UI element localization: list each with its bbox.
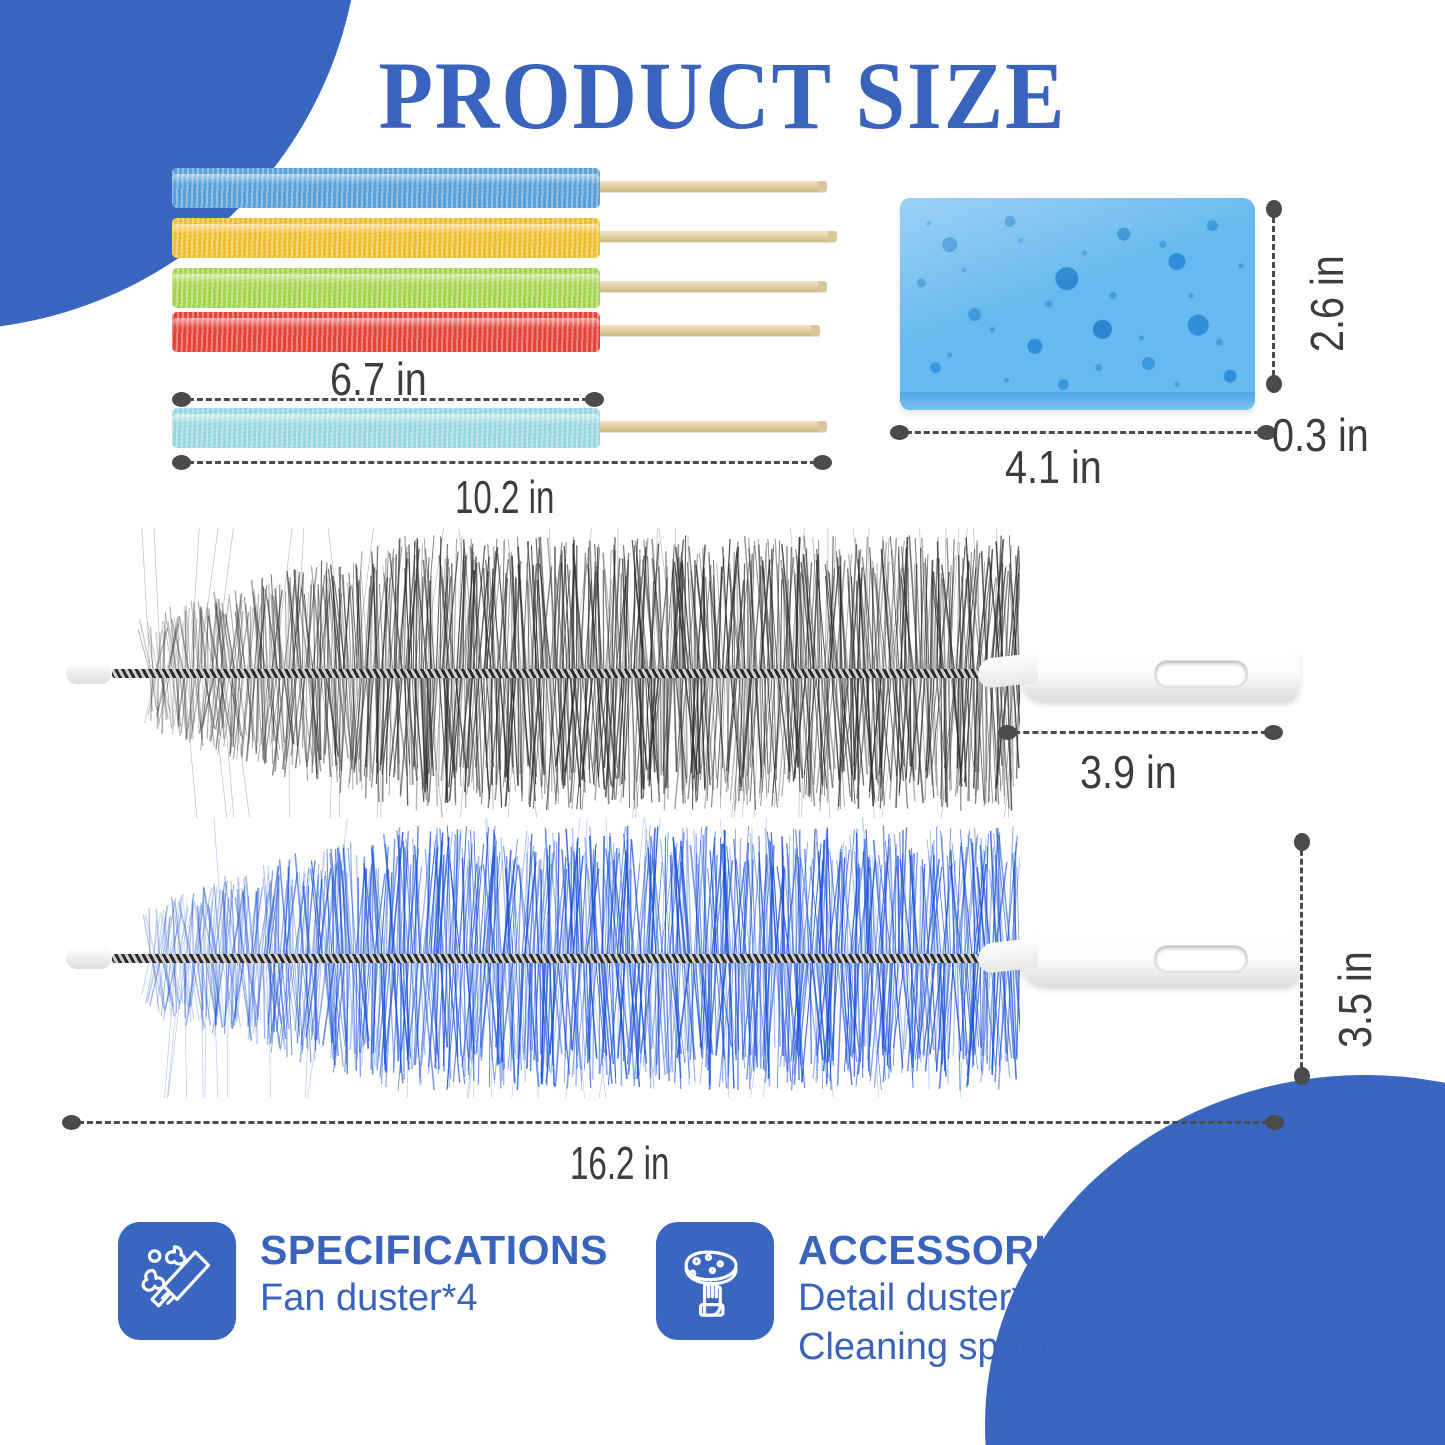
dimension-label-3-9in: 3.9 in bbox=[1080, 745, 1177, 799]
dimension-dot bbox=[1294, 1067, 1310, 1085]
dimension-line-brush-total bbox=[62, 1115, 1284, 1129]
dimension-line-sponge-width bbox=[890, 425, 1276, 439]
duster-microfiber-sleeve bbox=[172, 218, 600, 258]
dimension-label-6-7in: 6.7 in bbox=[330, 352, 427, 406]
sleeve-highlight bbox=[172, 274, 600, 284]
brush-handle bbox=[1020, 644, 1300, 702]
dimension-label-16-2in: 16.2 in bbox=[570, 1136, 669, 1190]
dimension-label-4-1in: 4.1 in bbox=[1005, 440, 1102, 494]
brush-tip-cap bbox=[66, 662, 112, 684]
duster-wood-rod bbox=[590, 421, 827, 432]
handle-hanging-hole bbox=[1154, 945, 1248, 973]
product-size-infographic: PRODUCT SIZE 6.7 bbox=[0, 0, 1445, 1445]
duster-microfiber-sleeve bbox=[172, 408, 600, 448]
fan-duster-blue bbox=[172, 168, 827, 208]
badge-line: Fan duster*4 bbox=[260, 1274, 608, 1323]
duster-wood-rod bbox=[590, 281, 827, 292]
badge-line: Detail duster*4 bbox=[798, 1274, 1119, 1323]
dimension-dot bbox=[585, 392, 604, 407]
handle-hanging-hole bbox=[1154, 660, 1248, 688]
dimension-dash bbox=[1272, 208, 1275, 385]
fan-duster-green bbox=[172, 268, 827, 308]
dimension-dash bbox=[897, 431, 1269, 434]
dimension-dash bbox=[1300, 841, 1303, 1077]
badge-line: Cleaning sponge*1 bbox=[798, 1323, 1119, 1372]
dimension-dot bbox=[1266, 375, 1282, 393]
brush-wire-core bbox=[112, 669, 1020, 678]
dimension-label-3-5in: 3.5 in bbox=[1328, 951, 1382, 1048]
badge-title: SPECIFICATIONS bbox=[260, 1228, 608, 1274]
sponge-highlight bbox=[900, 198, 1255, 410]
dimension-dash bbox=[1005, 731, 1276, 734]
duster-wood-rod bbox=[590, 181, 827, 192]
dimension-line-sponge-height bbox=[1266, 200, 1281, 393]
badge-text-block: ACCESSORIES Detail duster*4 Cleaning spo… bbox=[798, 1222, 1119, 1373]
dimension-label-0-3in: 0.3 in bbox=[1272, 408, 1369, 462]
brush-tip-cap bbox=[66, 947, 112, 969]
detail-duster-cyan bbox=[172, 408, 827, 448]
sleeve-highlight bbox=[172, 318, 600, 328]
fan-duster-yellow bbox=[172, 218, 837, 258]
dimension-label-2-6in: 2.6 in bbox=[1300, 255, 1354, 352]
fan-duster-red bbox=[172, 312, 820, 352]
dimension-dash bbox=[69, 1121, 1277, 1124]
badge-text-block: SPECIFICATIONS Fan duster*4 bbox=[260, 1222, 608, 1323]
dimension-line-duster-total bbox=[172, 455, 832, 469]
sleeve-highlight bbox=[172, 224, 600, 234]
duster-microfiber-sleeve bbox=[172, 268, 600, 308]
duster-brush-black bbox=[112, 528, 1020, 818]
duster-wood-rod bbox=[590, 325, 820, 336]
dimension-dash bbox=[179, 461, 825, 464]
sleeve-highlight bbox=[172, 174, 600, 184]
duster-wood-rod bbox=[590, 231, 837, 242]
dimension-dot bbox=[1265, 1115, 1284, 1130]
badge-accessories: ACCESSORIES Detail duster*4 Cleaning spo… bbox=[656, 1222, 1119, 1373]
sleeve-highlight bbox=[172, 414, 600, 424]
cleaning-sponge bbox=[900, 198, 1255, 410]
dimension-dot bbox=[1264, 725, 1283, 740]
mop-duster-icon bbox=[118, 1222, 236, 1340]
duster-microfiber-sleeve bbox=[172, 312, 600, 352]
dimension-line-handle-length bbox=[998, 725, 1283, 739]
gloved-hand-sponge-icon bbox=[656, 1222, 774, 1340]
dimension-label-10-2in: 10.2 in bbox=[455, 470, 554, 524]
badge-title: ACCESSORIES bbox=[798, 1228, 1119, 1274]
brush-wire-core bbox=[112, 954, 1020, 963]
brush-handle bbox=[1020, 929, 1300, 987]
badge-specifications: SPECIFICATIONS Fan duster*4 bbox=[118, 1222, 608, 1340]
dimension-dot bbox=[813, 455, 832, 470]
duster-microfiber-sleeve bbox=[172, 168, 600, 208]
page-title: PRODUCT SIZE bbox=[51, 40, 1395, 151]
sponge-side-edge bbox=[900, 392, 1255, 410]
duster-brush-blue bbox=[112, 818, 1020, 1098]
